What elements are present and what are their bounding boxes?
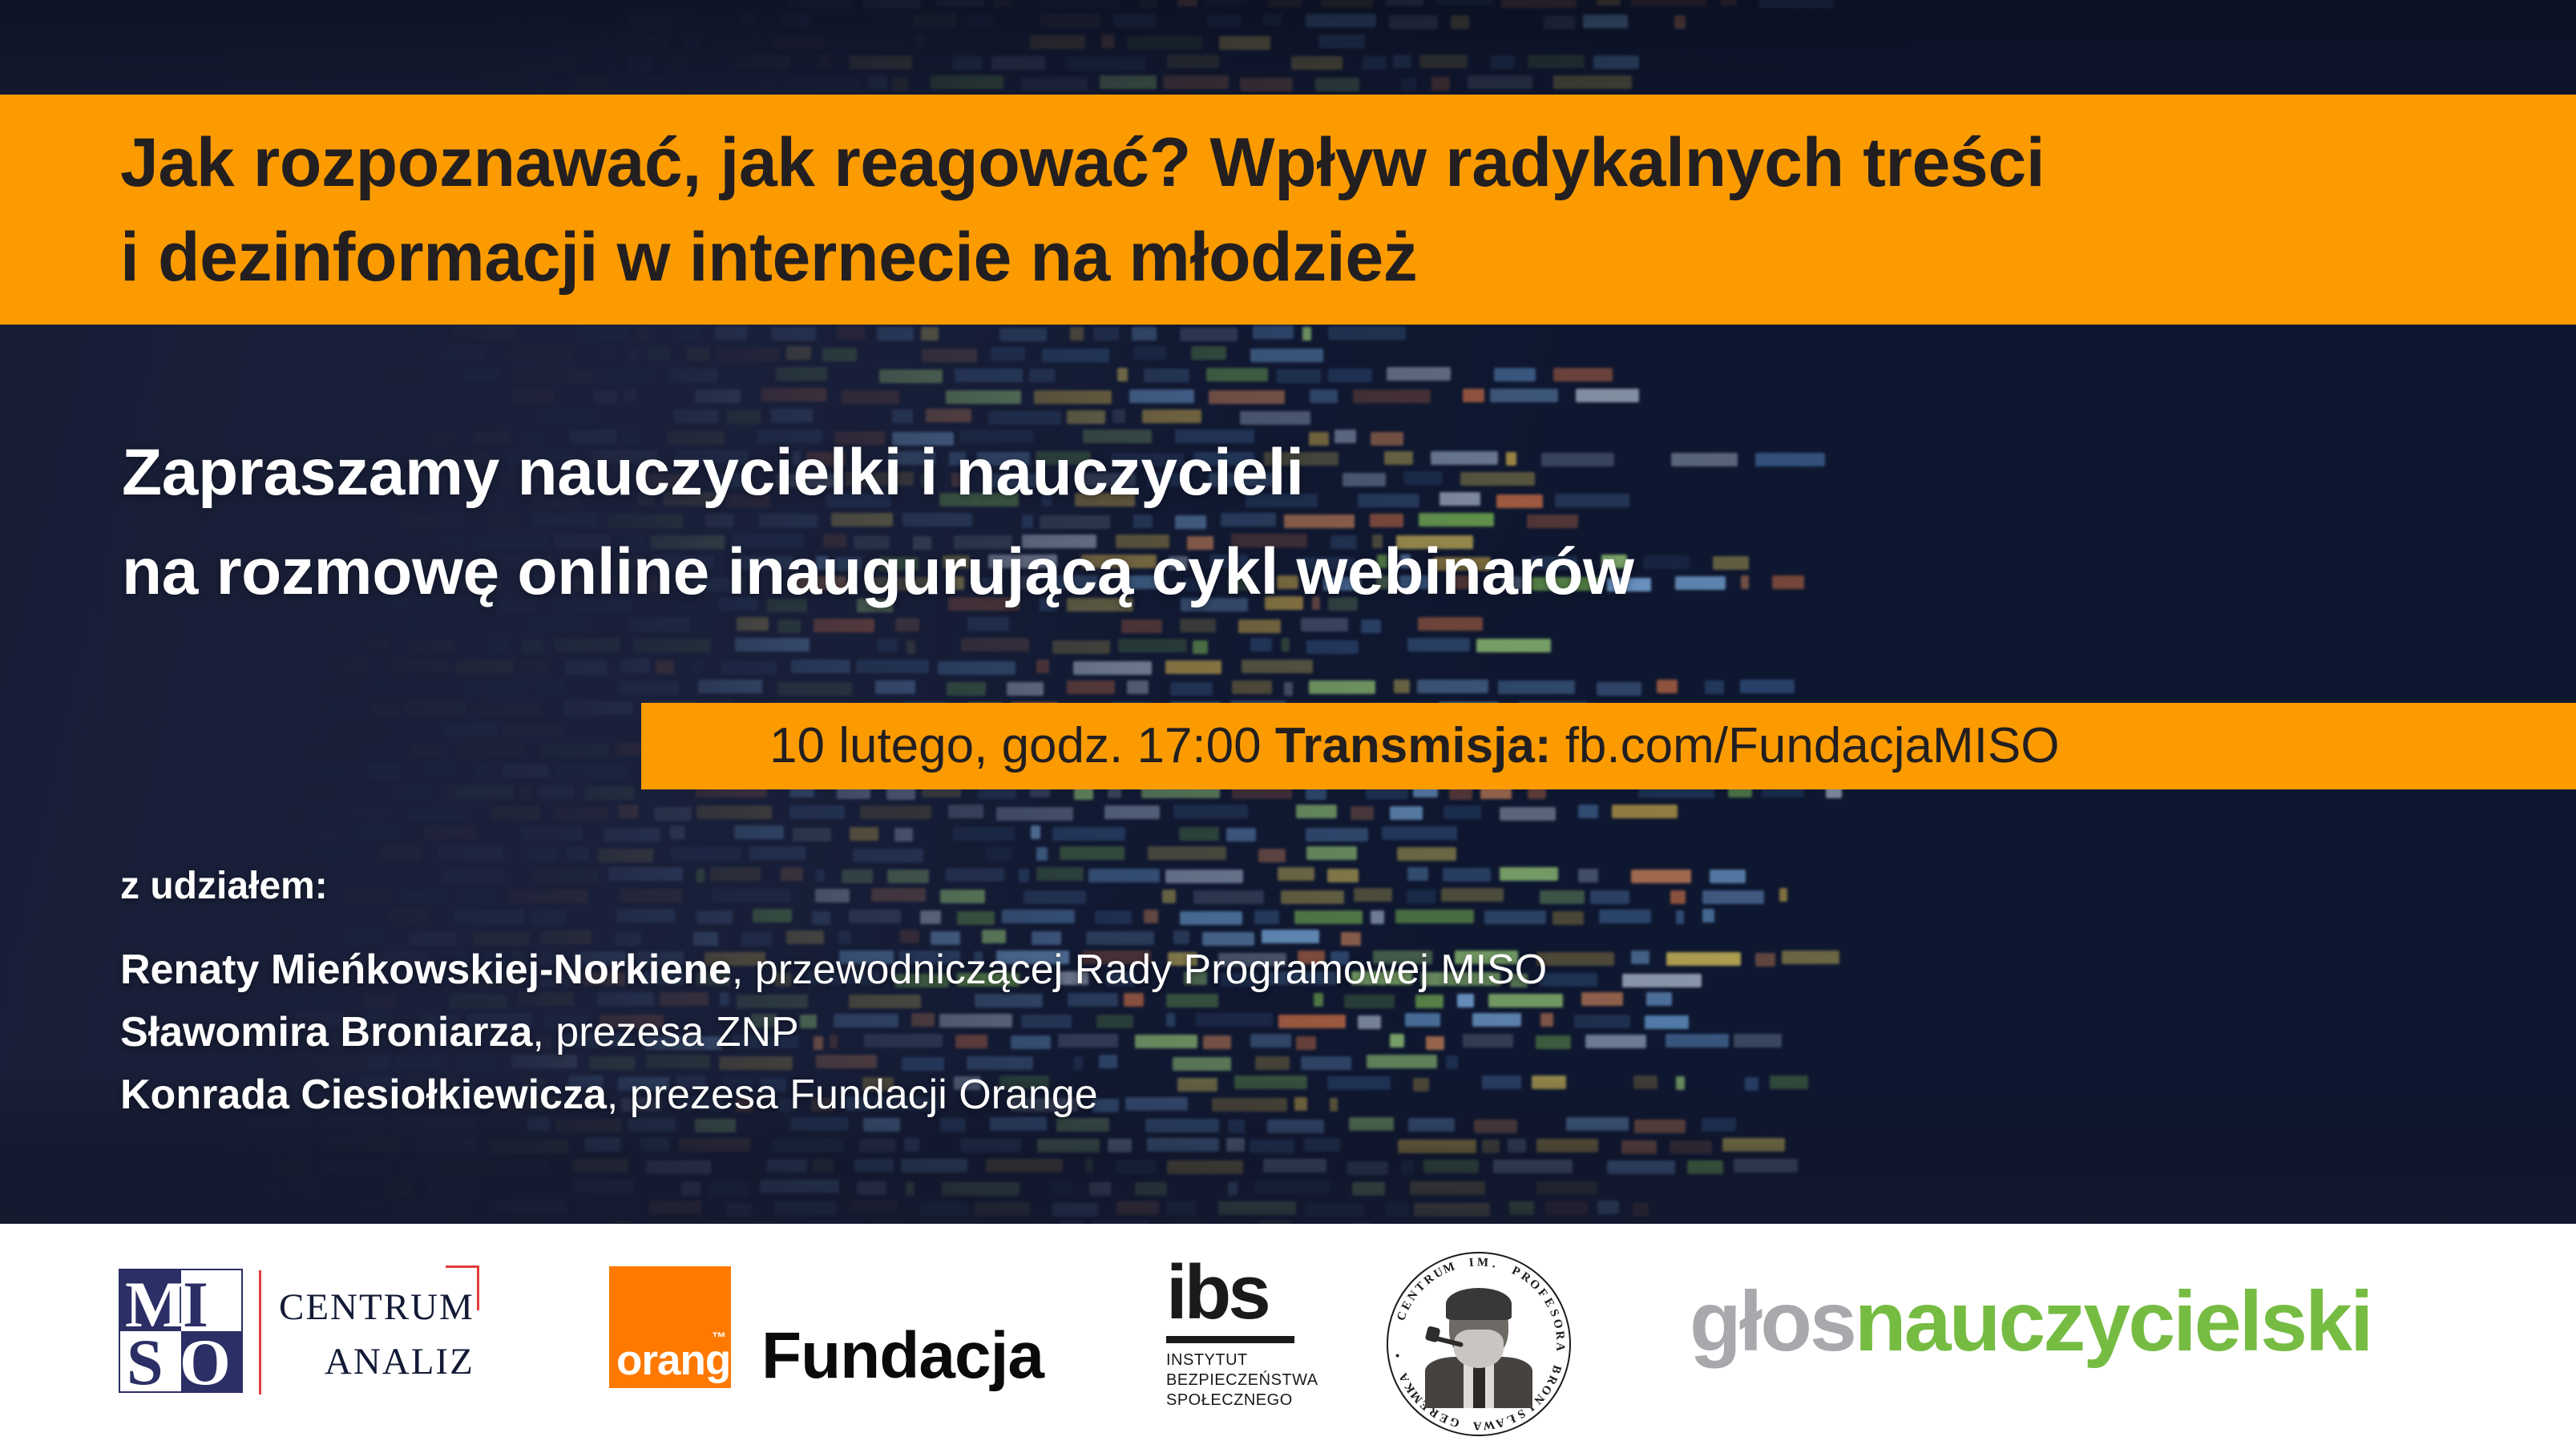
miso-line-2: ANALIZ (279, 1334, 474, 1389)
logo-ibs: ibs INSTYTUT BEZPIECZEŃSTWA SPOŁECZNEGO (1166, 1254, 1359, 1411)
lead-line-2: na rozmowę online inaugurującą cykl webi… (122, 523, 2286, 622)
miso-divider (259, 1270, 261, 1395)
event-datetime: 10 lutego, godz. 17:00 (769, 703, 1262, 789)
title-line-1: Jak rozpoznawać, jak reagować? Wpływ rad… (120, 115, 2576, 210)
fundacja-wordmark: Fundacja (761, 1324, 1044, 1388)
miso-wordmark: CENTRUM ANALIZ (279, 1269, 474, 1413)
orange-wordmark: orange (616, 1339, 753, 1382)
logo-glos-nauczycielski: głosnauczycielski (1690, 1279, 2371, 1364)
participant-name: Konrada Ciesiołkiewicza (120, 1072, 607, 1118)
ibs-wordmark: ibs (1166, 1254, 1359, 1331)
lead-line-1: Zapraszamy nauczycielki i nauczycieli (122, 423, 2286, 523)
date-stream-banner: 10 lutego, godz. 17:00 Transmisja: fb.co… (641, 703, 2576, 789)
participants-block: z udziałem: Renaty Mieńkowskiej-Norkiene… (120, 862, 2124, 1126)
background-top-shade (0, 0, 2576, 95)
logo-orange-fundacja: ™ orange Fundacja (609, 1266, 1044, 1388)
webinar-poster: Jak rozpoznawać, jak reagować? Wpływ rad… (0, 0, 2576, 1445)
stream-label: Transmisja: (1275, 703, 1552, 789)
participant-row: Sławomira Broniarza, prezesa ZNP (120, 1001, 2124, 1064)
geremek-portrait-icon (1419, 1288, 1539, 1408)
glos-part-2: nauczycielski (1855, 1274, 2372, 1369)
title-line-2: i dezinformacji w internecie na młodzież (120, 210, 2576, 305)
orange-square-icon: ™ orange (609, 1266, 731, 1388)
ibs-sub-line-3: SPOŁECZNEGO (1166, 1391, 1359, 1411)
ibs-sub-line-1: INSTYTUT (1166, 1350, 1359, 1370)
logo-geremek-centre: CENTRUM IM. PROFESORA BRONISŁAWA GEREMKA… (1387, 1252, 1571, 1436)
participant-name: Sławomira Broniarza (120, 1009, 532, 1055)
participant-role: , przewodniczącej Rady Programowej MISO (732, 947, 1547, 993)
participant-role: , prezesa Fundacji Orange (607, 1072, 1098, 1118)
title-banner: Jak rozpoznawać, jak reagować? Wpływ rad… (0, 95, 2576, 325)
miso-letter-o: O (180, 1331, 231, 1393)
stream-url[interactable]: fb.com/FundacjaMISO (1565, 703, 2060, 789)
ibs-sub-line-2: BEZPIECZEŃSTWA (1166, 1370, 1359, 1391)
logo-miso: M I S O CENTRUM ANALIZ (119, 1269, 474, 1413)
glos-part-1: głos (1690, 1274, 1855, 1369)
miso-letter-s: S (127, 1331, 164, 1393)
participants-heading: z udziałem: (120, 862, 2124, 911)
participant-row: Konrada Ciesiołkiewicza, prezesa Fundacj… (120, 1064, 2124, 1126)
participant-role: , prezesa ZNP (532, 1009, 798, 1055)
participant-row: Renaty Mieńkowskiej-Norkiene, przewodnic… (120, 938, 2124, 1001)
lead-text: Zapraszamy nauczycielki i nauczycieli na… (122, 423, 2286, 622)
miso-corner-bracket (446, 1265, 479, 1310)
ibs-rule (1166, 1336, 1294, 1343)
participant-name: Renaty Mieńkowskiej-Norkiene (120, 947, 732, 993)
miso-mark-icon: M I S O (119, 1269, 243, 1393)
